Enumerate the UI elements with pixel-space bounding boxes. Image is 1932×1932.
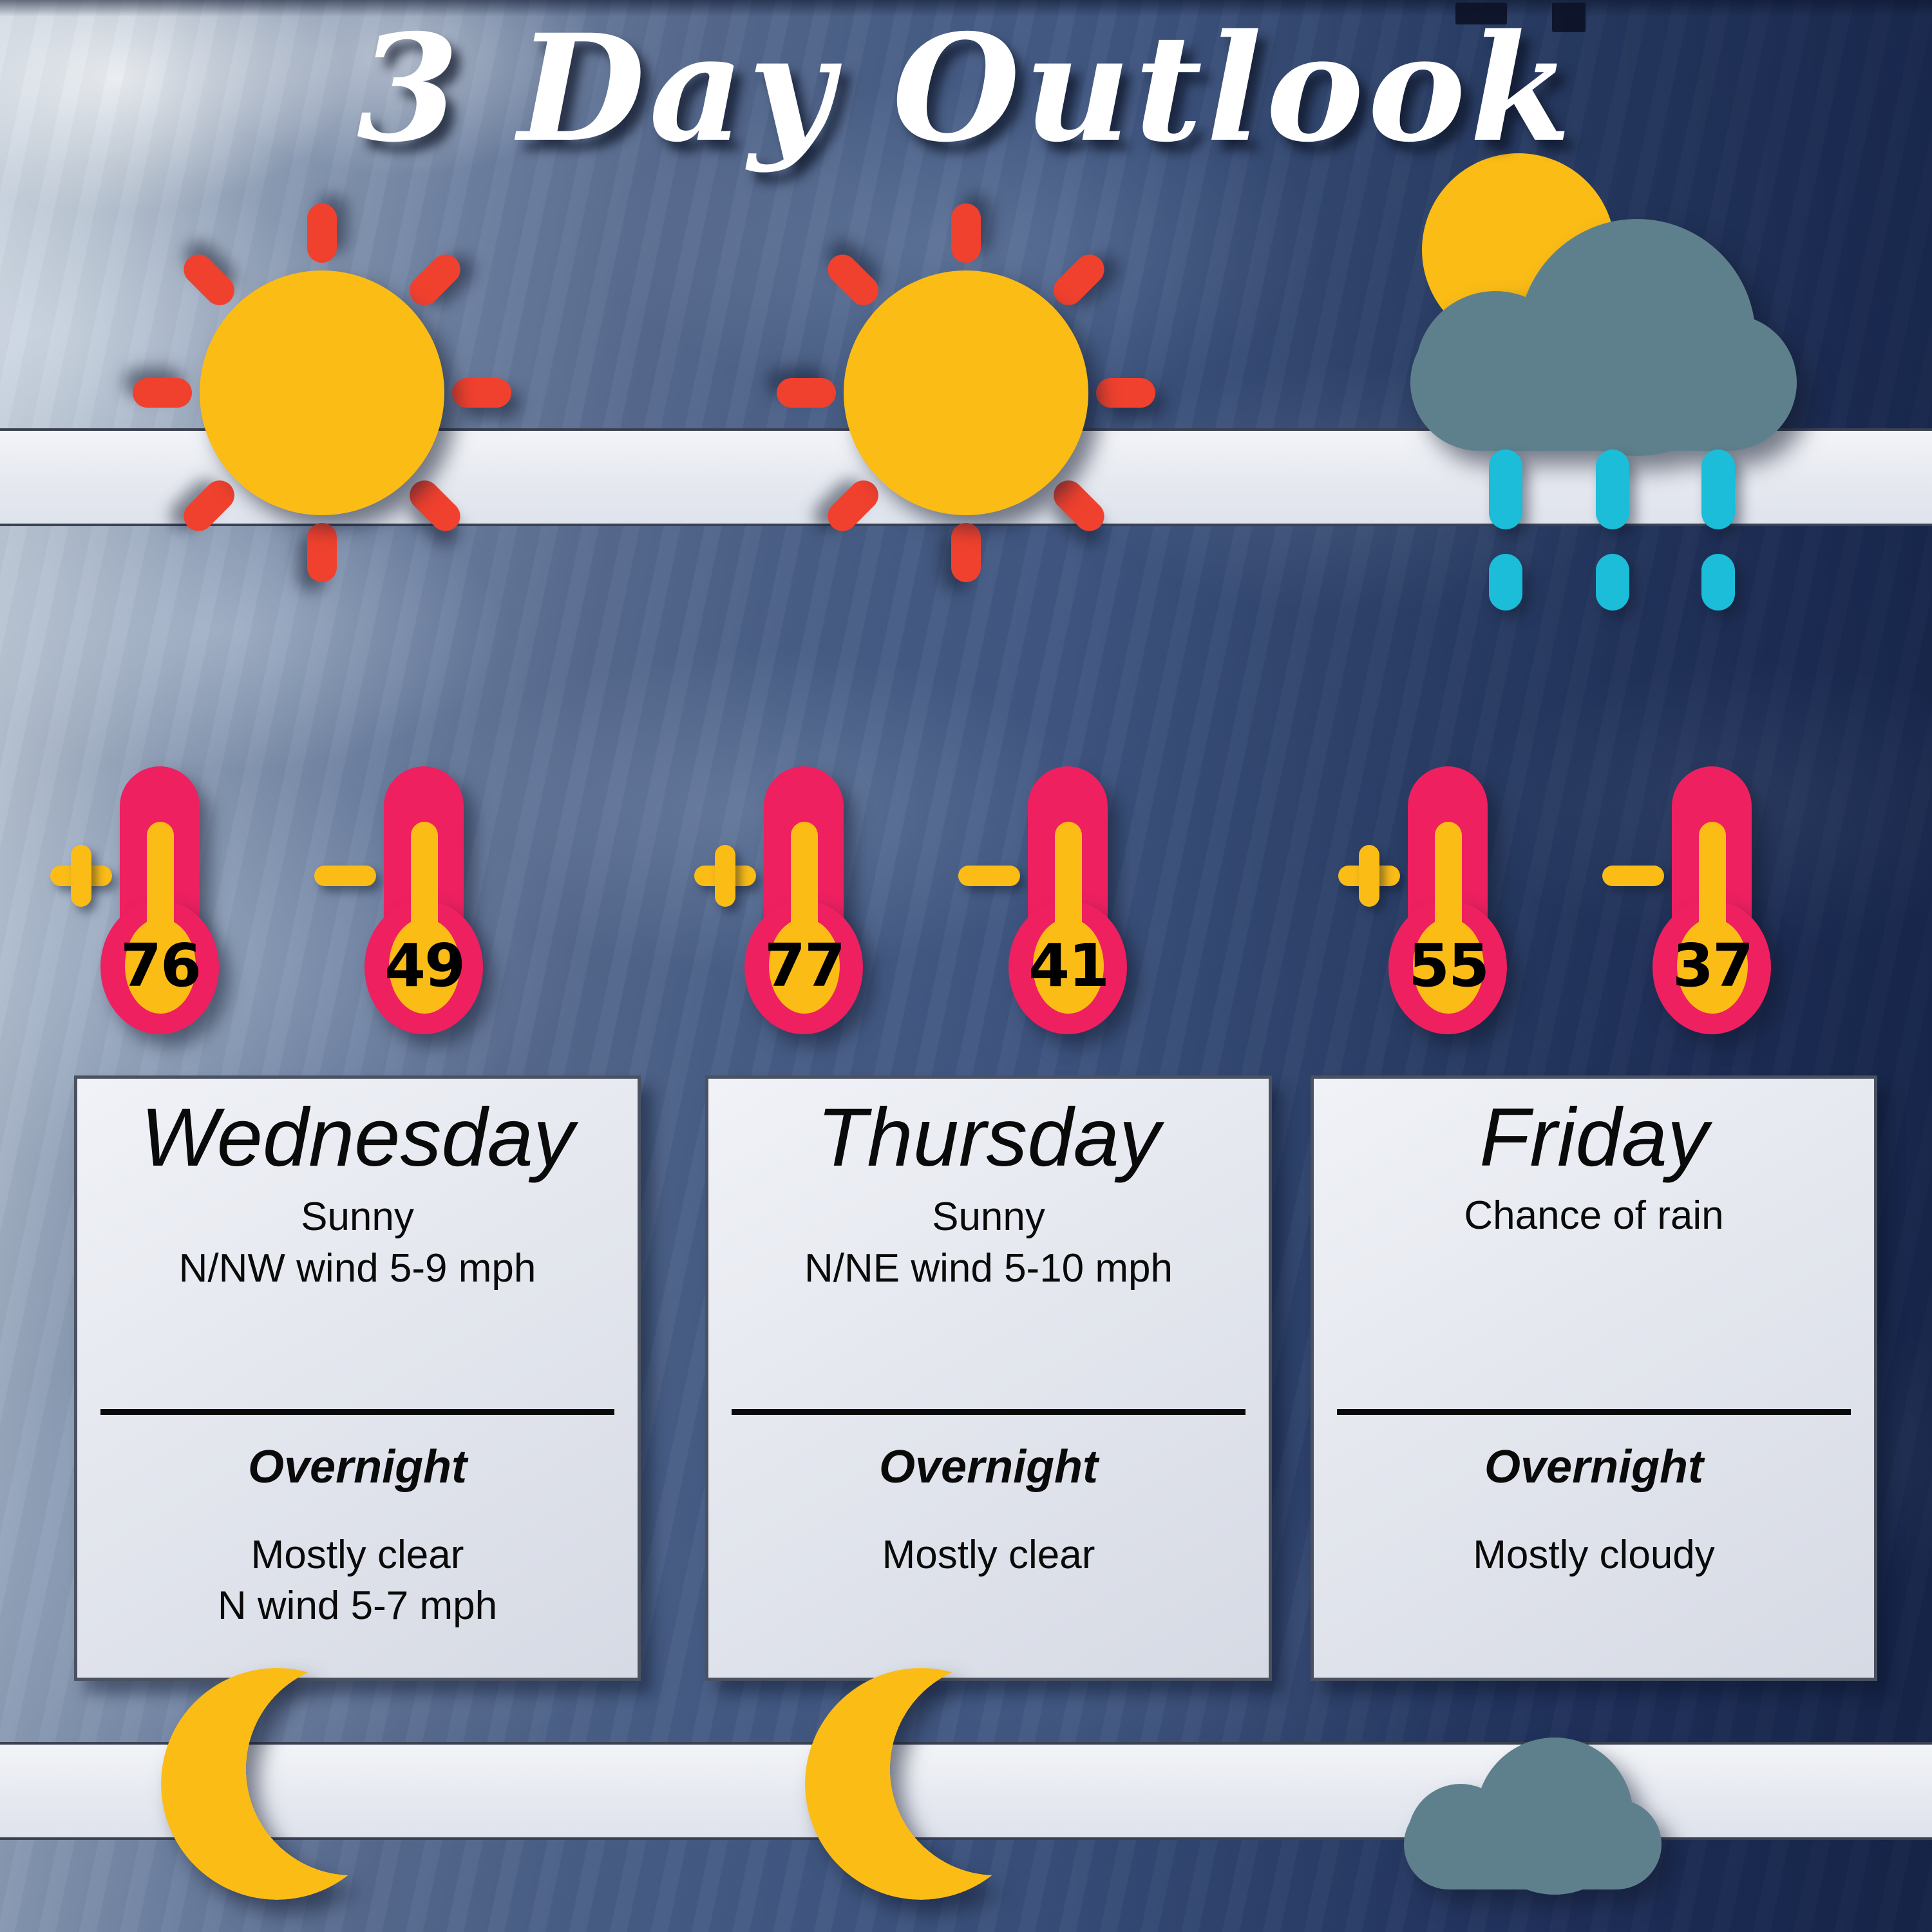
condition-line: N/NE wind 5-10 mph bbox=[732, 1243, 1245, 1294]
thermometer-low-wednesday: 49 bbox=[361, 766, 528, 1043]
thermometer-low-friday: 37 bbox=[1649, 766, 1816, 1043]
plus-sign-icon bbox=[50, 845, 112, 907]
day-conditions: Sunny N/NE wind 5-10 mph bbox=[732, 1191, 1245, 1294]
cloud-icon bbox=[1404, 1738, 1662, 1889]
forecast-panel-friday: Friday Chance of rain Overnight Mostly c… bbox=[1311, 1075, 1877, 1681]
low-temp-value: 37 bbox=[1672, 936, 1752, 996]
rain-drop bbox=[1596, 554, 1629, 611]
daytime-icon-friday bbox=[1288, 193, 1932, 592]
plus-sign-icon bbox=[694, 845, 756, 907]
condition-line: Sunny bbox=[100, 1191, 614, 1242]
overnight-conditions: Mostly cloudy bbox=[1337, 1529, 1851, 1580]
sun-ray bbox=[133, 378, 192, 408]
sun-ray bbox=[404, 475, 467, 538]
day-title: Wednesday bbox=[100, 1090, 614, 1185]
low-temp-value: 49 bbox=[384, 936, 464, 996]
sun-ray bbox=[404, 249, 467, 312]
thermometer-reading: 41 bbox=[1033, 918, 1104, 1014]
overnight-line: Mostly clear bbox=[732, 1529, 1245, 1580]
panel-divider bbox=[100, 1409, 614, 1415]
low-temp-value: 41 bbox=[1028, 936, 1108, 996]
sun-ray bbox=[452, 378, 511, 408]
sun-ray bbox=[307, 523, 337, 582]
overnight-conditions: Mostly clear N wind 5-7 mph bbox=[100, 1529, 614, 1632]
high-temp-value: 77 bbox=[764, 936, 844, 996]
thermometer-high-wednesday: 76 bbox=[97, 766, 264, 1043]
thermometer-low-thursday: 41 bbox=[1005, 766, 1172, 1043]
condition-line: Chance of rain bbox=[1337, 1190, 1851, 1241]
crescent-moon-icon bbox=[161, 1668, 393, 1900]
thermometers-thursday: 77 41 bbox=[644, 766, 1288, 1043]
sun-ray bbox=[822, 475, 885, 538]
plus-sign-icon bbox=[1338, 845, 1400, 907]
thermometer-reading: 76 bbox=[125, 918, 196, 1014]
overnight-heading: Overnight bbox=[732, 1439, 1245, 1495]
panel-divider bbox=[1337, 1409, 1851, 1415]
thermometers-wednesday: 76 49 bbox=[0, 766, 644, 1043]
daytime-icon-wednesday bbox=[0, 193, 644, 592]
thermometer-reading: 49 bbox=[389, 918, 460, 1014]
sun-ray bbox=[951, 523, 981, 582]
rain-drop bbox=[1489, 554, 1522, 611]
sun-ray bbox=[178, 475, 241, 538]
forecast-panel-thursday: Thursday Sunny N/NE wind 5-10 mph Overni… bbox=[705, 1075, 1272, 1681]
rain-drop bbox=[1701, 554, 1735, 611]
cloud-shape bbox=[1410, 219, 1797, 451]
condition-line: N/NW wind 5-9 mph bbox=[100, 1243, 614, 1294]
daytime-icon-thursday bbox=[644, 193, 1288, 592]
overnight-icon-thursday bbox=[644, 1655, 1288, 1932]
overnight-icon-row bbox=[0, 1655, 1932, 1932]
overnight-heading: Overnight bbox=[1337, 1439, 1851, 1495]
overnight-heading: Overnight bbox=[100, 1439, 614, 1495]
thermometer-high-thursday: 77 bbox=[741, 766, 908, 1043]
sun-behind-rain-cloud-icon bbox=[1410, 193, 1810, 592]
high-temp-value: 76 bbox=[120, 936, 200, 996]
day-title: Friday bbox=[1337, 1090, 1851, 1185]
sun-icon bbox=[142, 213, 502, 573]
day-conditions: Chance of rain bbox=[1337, 1190, 1851, 1241]
forecast-panel-row: Wednesday Sunny N/NW wind 5-9 mph Overni… bbox=[0, 1075, 1932, 1681]
overnight-line: N wind 5-7 mph bbox=[100, 1580, 614, 1631]
daytime-icon-row bbox=[0, 193, 1932, 592]
sun-ray bbox=[178, 249, 241, 312]
rain-drop bbox=[1489, 450, 1522, 529]
forecast-panel-wednesday: Wednesday Sunny N/NW wind 5-9 mph Overni… bbox=[74, 1075, 641, 1681]
sun-icon bbox=[786, 213, 1146, 573]
high-temp-value: 55 bbox=[1408, 936, 1488, 996]
sun-ray bbox=[951, 204, 981, 263]
crescent-moon-icon bbox=[805, 1668, 1037, 1900]
rain-drop bbox=[1701, 450, 1735, 529]
day-conditions: Sunny N/NW wind 5-9 mph bbox=[100, 1191, 614, 1294]
thermometer-high-friday: 55 bbox=[1385, 766, 1552, 1043]
thermometer-row: 76 49 bbox=[0, 766, 1932, 1043]
cloud-base bbox=[1410, 314, 1797, 451]
weather-forecast-graphic: 3 Day Outlook bbox=[0, 0, 1932, 1932]
thermometers-friday: 55 37 bbox=[1288, 766, 1932, 1043]
sun-ray bbox=[777, 378, 836, 408]
sun-disc bbox=[844, 270, 1088, 515]
moon-disc bbox=[161, 1668, 393, 1900]
thermometer-reading: 55 bbox=[1413, 918, 1484, 1014]
day-title: Thursday bbox=[732, 1090, 1245, 1185]
overnight-line: Mostly clear bbox=[100, 1529, 614, 1580]
minus-sign-icon bbox=[1602, 845, 1664, 907]
sun-ray bbox=[1096, 378, 1155, 408]
sun-ray bbox=[1048, 475, 1111, 538]
thermometer-reading: 37 bbox=[1677, 918, 1748, 1014]
overnight-icon-wednesday bbox=[0, 1655, 644, 1932]
minus-sign-icon bbox=[958, 845, 1020, 907]
condition-line: Sunny bbox=[732, 1191, 1245, 1242]
page-title: 3 Day Outlook bbox=[0, 12, 1932, 166]
overnight-conditions: Mostly clear bbox=[732, 1529, 1245, 1580]
thermometer-reading: 77 bbox=[769, 918, 840, 1014]
panel-divider bbox=[732, 1409, 1245, 1415]
sun-ray bbox=[307, 204, 337, 263]
rain-drop bbox=[1596, 450, 1629, 529]
sun-disc bbox=[200, 270, 444, 515]
cloud-base bbox=[1404, 1799, 1662, 1889]
sun-ray bbox=[822, 249, 885, 312]
overnight-line: Mostly cloudy bbox=[1337, 1529, 1851, 1580]
moon-disc bbox=[805, 1668, 1037, 1900]
overnight-icon-friday bbox=[1288, 1655, 1932, 1932]
sun-ray bbox=[1048, 249, 1111, 312]
minus-sign-icon bbox=[314, 845, 376, 907]
